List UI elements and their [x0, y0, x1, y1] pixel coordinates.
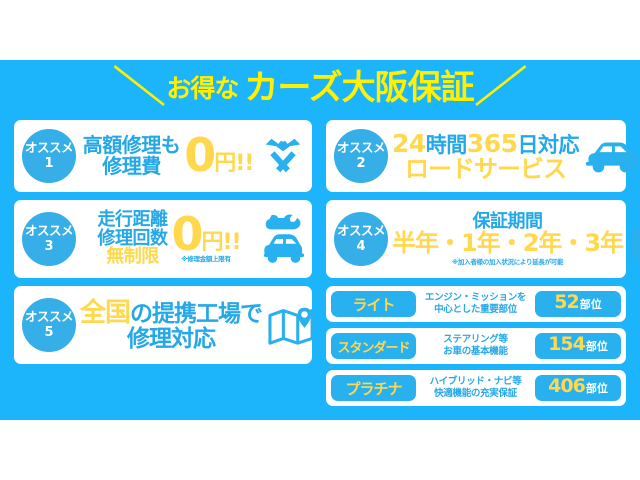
badge-number: 2 [356, 157, 365, 170]
plan-count-pill: 52 部位 [535, 291, 621, 317]
plan-row-standard[interactable]: スタンダード ステアリング等 お車の基本機能 154 部位 [326, 328, 626, 364]
advertisement-canvas: ＼ お得な カーズ大阪保証 ／ オススメ 1 高額修理も 修理費 [0, 0, 640, 480]
wrench-car-icon [262, 213, 306, 265]
map-pin-icon [266, 302, 318, 348]
feature-1-price-zero: 0 [184, 136, 214, 175]
plan-name-pill: ライト [331, 291, 416, 317]
feature-4-note: ※加入者様の加入状況により延長が可能 [452, 259, 563, 266]
medical-briefcase-icon [627, 216, 640, 262]
feature-2-days: 365 [467, 129, 518, 158]
feature-2-days-unit: 日対応 [517, 133, 579, 157]
plan-name-pill: スタンダード [331, 333, 416, 359]
feature-3-line3: 無制限 [106, 248, 159, 267]
plan-count-pill: 154 部位 [535, 333, 621, 359]
feature-3-price-yen: 円!! [201, 231, 240, 254]
recommend-badge-2: オススメ 2 [334, 129, 388, 183]
feature-5-text: 全国の提携工場で 修理対応 [80, 299, 262, 352]
badge-number: 5 [44, 326, 53, 339]
feature-1-line2: 修理費 [102, 156, 161, 177]
badge-number: 1 [44, 157, 53, 170]
feature-4-line2: 半年・1年・2年・3年 [392, 231, 623, 257]
recommend-badge-5: オススメ 5 [22, 298, 76, 352]
plan-row-light[interactable]: ライト エンジン・ミッションを 中心とした重要部位 52 部位 [326, 286, 626, 322]
plan-desc-line2: 快適機能の充実保証 [421, 388, 530, 400]
feature-1-text: 高額修理も 修理費 0 円!! [80, 135, 256, 177]
badge-label: オススメ [25, 225, 73, 238]
plan-list: ライト エンジン・ミッションを 中心とした重要部位 52 部位 スタンダード ス… [326, 286, 626, 410]
badge-label: オススメ [25, 311, 73, 324]
feature-2-line2: ロードサービス [405, 157, 566, 183]
feature-1-price-yen: 円!! [214, 152, 253, 176]
feature-card-4[interactable]: オススメ 4 保証期間 半年・1年・2年・3年 ※加入者様の加入状況により延長が… [326, 200, 626, 278]
feature-card-1[interactable]: オススメ 1 高額修理も 修理費 0 円!! [14, 120, 312, 192]
slash-right-decoration: ／ [473, 67, 527, 109]
feature-2-hours: 24 [392, 129, 426, 158]
feature-5-highlight: 全国 [80, 298, 130, 328]
feature-1-line1: 高額修理も [83, 135, 181, 156]
headline: ＼ お得な カーズ大阪保証 ／ [0, 62, 640, 114]
plan-count-unit: 部位 [586, 380, 608, 396]
feature-card-3[interactable]: オススメ 3 走行距離 修理回数 無制限 0 円!! [14, 200, 312, 278]
plan-name-pill: プラチナ [331, 375, 416, 401]
plan-count-number: 406 [548, 375, 585, 397]
feature-4-text: 保証期間 半年・1年・2年・3年 ※加入者様の加入状況により延長が可能 [392, 212, 623, 266]
plan-count-unit: 部位 [586, 338, 608, 354]
plan-desc-line2: お車の基本機能 [421, 346, 530, 358]
recommend-badge-3: オススメ 3 [22, 212, 76, 266]
plan-desc-line1: ハイブリッド・ナビ等 [421, 376, 530, 388]
plan-count-unit: 部位 [580, 296, 602, 312]
feature-card-5[interactable]: オススメ 5 全国の提携工場で 修理対応 [14, 286, 312, 364]
car-icon [583, 136, 640, 176]
recommend-badge-4: オススメ 4 [334, 212, 388, 266]
badge-number: 3 [44, 240, 53, 253]
feature-2-hours-unit: 時間 [426, 133, 467, 157]
feature-2-text: 24時間365日対応 ロードサービス [392, 130, 579, 183]
feature-3-text: 走行距離 修理回数 無制限 0 円!! ※修理金額上限有 [80, 211, 258, 268]
headline-lead: お得な [166, 76, 238, 101]
badge-label: オススメ [337, 225, 385, 238]
plan-desc-line1: エンジン・ミッションを [421, 292, 530, 304]
plan-description: ハイブリッド・ナビ等 快適機能の充実保証 [421, 376, 530, 400]
plan-description: ステアリング等 お車の基本機能 [421, 334, 530, 358]
plan-count-number: 52 [554, 291, 578, 313]
plan-row-platinum[interactable]: プラチナ ハイブリッド・ナビ等 快適機能の充実保証 406 部位 [326, 370, 626, 406]
plan-count-number: 154 [548, 333, 585, 355]
plan-desc-line2: 中心とした重要部位 [421, 304, 530, 316]
plan-description: エンジン・ミッションを 中心とした重要部位 [421, 292, 530, 316]
feature-5-line1-rest: の提携工場で [130, 301, 262, 327]
slash-left-decoration: ＼ [114, 67, 168, 109]
recommend-badge-1: オススメ 1 [22, 129, 76, 183]
feature-3-note: ※修理金額上限有 [181, 256, 230, 263]
feature-3-line1: 走行距離 [97, 211, 167, 230]
badge-label: オススメ [25, 142, 73, 155]
plan-count-pill: 406 部位 [535, 375, 621, 401]
crossed-hammers-icon [260, 133, 306, 179]
badge-label: オススメ [337, 142, 385, 155]
feature-card-2[interactable]: オススメ 2 24時間365日対応 ロードサービス [326, 120, 626, 192]
headline-main: カーズ大阪保証 [244, 71, 473, 105]
plan-desc-line1: ステアリング等 [421, 334, 530, 346]
feature-3-price-zero: 0 [171, 215, 201, 254]
badge-number: 4 [356, 240, 365, 253]
feature-5-line2: 修理対応 [127, 327, 215, 352]
